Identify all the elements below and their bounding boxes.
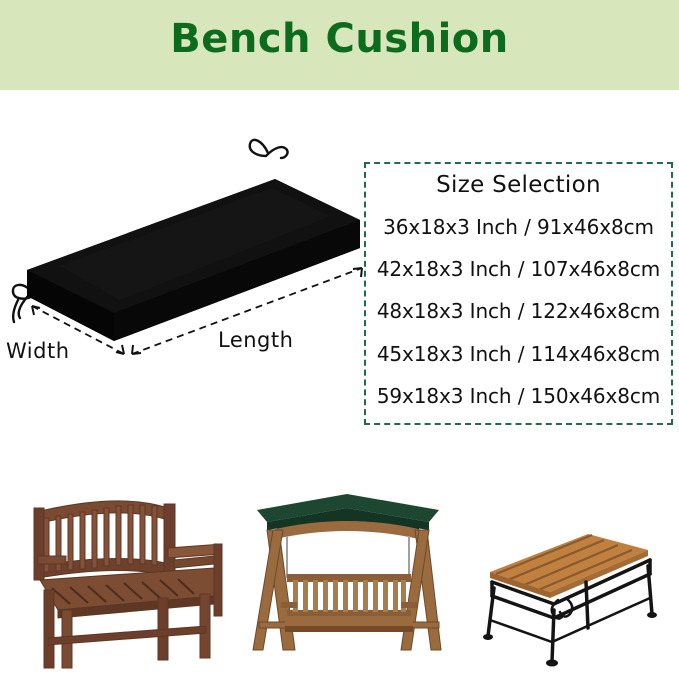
furniture-wooden-porch-swing xyxy=(243,470,455,673)
size-selection-title: Size Selection xyxy=(436,172,601,198)
size-option-list: 36x18x3 Inch / 91x46x8cm 42x18x3 Inch / … xyxy=(366,206,671,423)
header-banner: Bench Cushion xyxy=(0,0,679,90)
cushion-drawing xyxy=(0,100,380,410)
wooden-garden-bench-drawing xyxy=(8,470,236,673)
furniture-examples-row xyxy=(0,470,679,673)
furniture-wooden-garden-bench xyxy=(8,470,236,673)
width-label: Width xyxy=(6,339,70,363)
cushion-tie-right xyxy=(250,140,288,158)
size-option[interactable]: 45x18x3 Inch / 114x46x8cm xyxy=(377,342,660,366)
product-infographic: Bench Cushion xyxy=(0,0,679,673)
size-option[interactable]: 59x18x3 Inch / 150x46x8cm xyxy=(377,384,660,408)
page-title: Bench Cushion xyxy=(0,16,679,62)
size-option[interactable]: 48x18x3 Inch / 122x46x8cm xyxy=(377,299,660,323)
size-option[interactable]: 36x18x3 Inch / 91x46x8cm xyxy=(383,215,654,239)
cushion-illustration: Width Length xyxy=(0,100,380,410)
furniture-backless-slat-bench xyxy=(462,470,672,673)
wooden-porch-swing-drawing xyxy=(243,470,455,673)
size-selection-box[interactable]: Size Selection 36x18x3 Inch / 91x46x8cm … xyxy=(364,162,673,425)
backless-slat-bench-drawing xyxy=(462,470,672,673)
size-option[interactable]: 42x18x3 Inch / 107x46x8cm xyxy=(377,257,660,281)
length-label: Length xyxy=(218,328,293,352)
